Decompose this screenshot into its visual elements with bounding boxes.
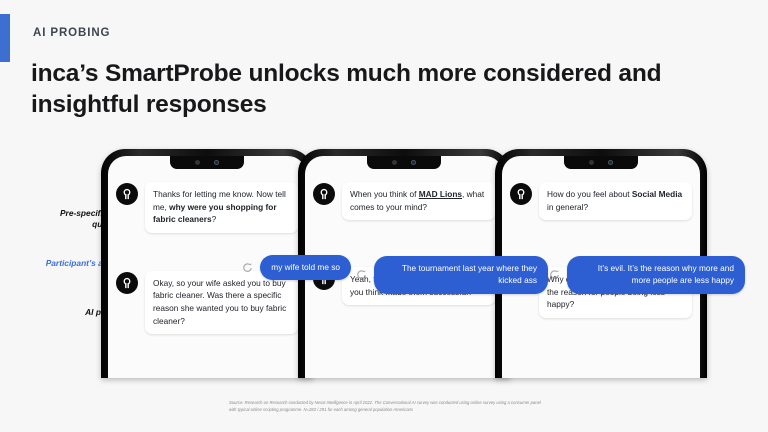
assistant-avatar-icon [313, 183, 335, 205]
reload-icon[interactable] [355, 268, 368, 281]
phone-notch [367, 156, 441, 169]
assistant-avatar-icon [116, 183, 138, 205]
bot-message-row: Thanks for letting me know. Now tell me,… [108, 182, 306, 233]
phone-mockup-group: Thanks for letting me know. Now tell me,… [0, 0, 768, 432]
front-camera-icon [608, 160, 613, 165]
user-message-row: It’s evil. It’s the reason why more and … [502, 256, 745, 294]
answer-bubble: It’s evil. It’s the reason why more and … [567, 256, 745, 294]
speaker-dot-icon [392, 160, 397, 165]
reload-icon[interactable] [548, 268, 561, 281]
assistant-avatar-icon [510, 183, 532, 205]
question-bubble: When you think of MAD Lions, what comes … [342, 182, 495, 220]
bot-message-row: When you think of MAD Lions, what comes … [305, 182, 503, 220]
reload-icon[interactable] [241, 261, 254, 274]
slide-canvas: AI PROBING inca’s SmartProbe unlocks muc… [0, 0, 768, 432]
speaker-dot-icon [589, 160, 594, 165]
phone-notch [170, 156, 244, 169]
front-camera-icon [214, 160, 219, 165]
phone-notch [564, 156, 638, 169]
question-bubble: How do you feel about Social Media in ge… [539, 182, 692, 220]
question-bubble: Thanks for letting me know. Now tell me,… [145, 182, 298, 233]
bot-message-row: How do you feel about Social Media in ge… [502, 182, 700, 220]
front-camera-icon [411, 160, 416, 165]
speaker-dot-icon [195, 160, 200, 165]
source-footnote: Source: Research on Research conducted b… [229, 399, 549, 414]
